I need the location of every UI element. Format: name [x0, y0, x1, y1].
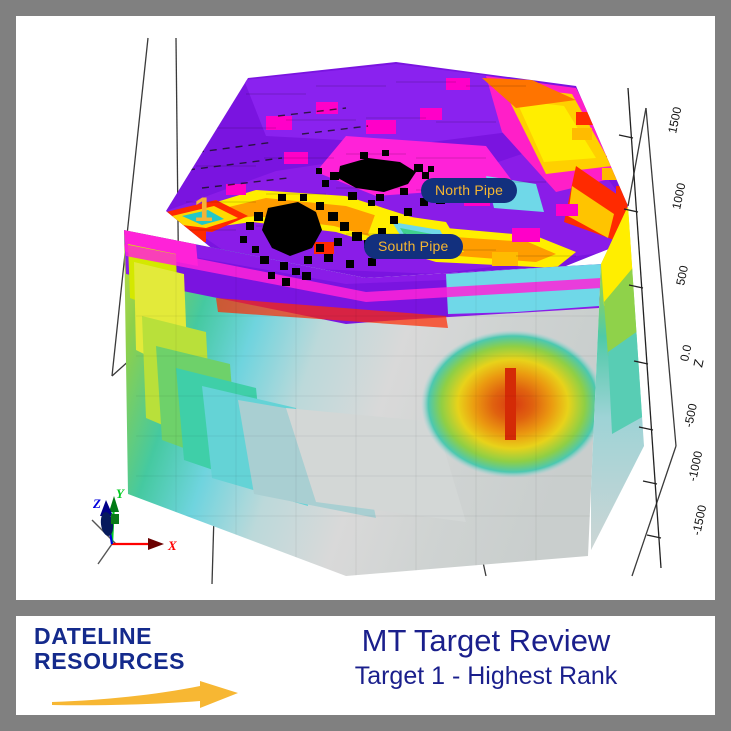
logo-line-resources: RESOURCES	[34, 649, 244, 674]
page-title: MT Target Review	[266, 622, 706, 660]
z-axis-title: Z	[690, 358, 706, 369]
z-tick-0: 1500	[665, 105, 684, 134]
footer-bar: DATELINE RESOURCES MT Target Review Targ…	[16, 616, 715, 715]
z-tick-4: -500	[681, 402, 700, 429]
triad-x-label: X	[167, 538, 177, 553]
z-tick-5: -1000	[685, 449, 705, 482]
company-logo[interactable]: DATELINE RESOURCES	[34, 624, 244, 708]
z-tick-1: 1000	[669, 181, 688, 210]
south-pipe-label[interactable]: South Pipe	[364, 234, 463, 259]
triad-y-label: Y	[116, 486, 125, 501]
logo-line-dateline: DATELINE	[34, 624, 244, 649]
triad-x-arrowhead	[148, 538, 164, 550]
model-3d-view[interactable]: 1500 1000 500 0.0 -500 -1000 -1500 Z	[16, 16, 715, 600]
z-tick-6: -1500	[689, 503, 709, 536]
target-number-label: 1	[194, 193, 213, 227]
screenshot-root: 1500 1000 500 0.0 -500 -1000 -1500 Z	[0, 0, 731, 731]
triad-z-label: Z	[92, 496, 101, 511]
north-pipe-label[interactable]: North Pipe	[421, 178, 517, 203]
model-plot-panel[interactable]: 1500 1000 500 0.0 -500 -1000 -1500 Z	[16, 16, 715, 600]
logo-arrow-icon	[50, 680, 240, 710]
triad-y-block	[111, 514, 119, 524]
slide-title-block: MT Target Review Target 1 - Highest Rank	[266, 622, 706, 692]
z-tick-2: 500	[673, 264, 691, 287]
page-subtitle: Target 1 - Highest Rank	[266, 660, 706, 692]
